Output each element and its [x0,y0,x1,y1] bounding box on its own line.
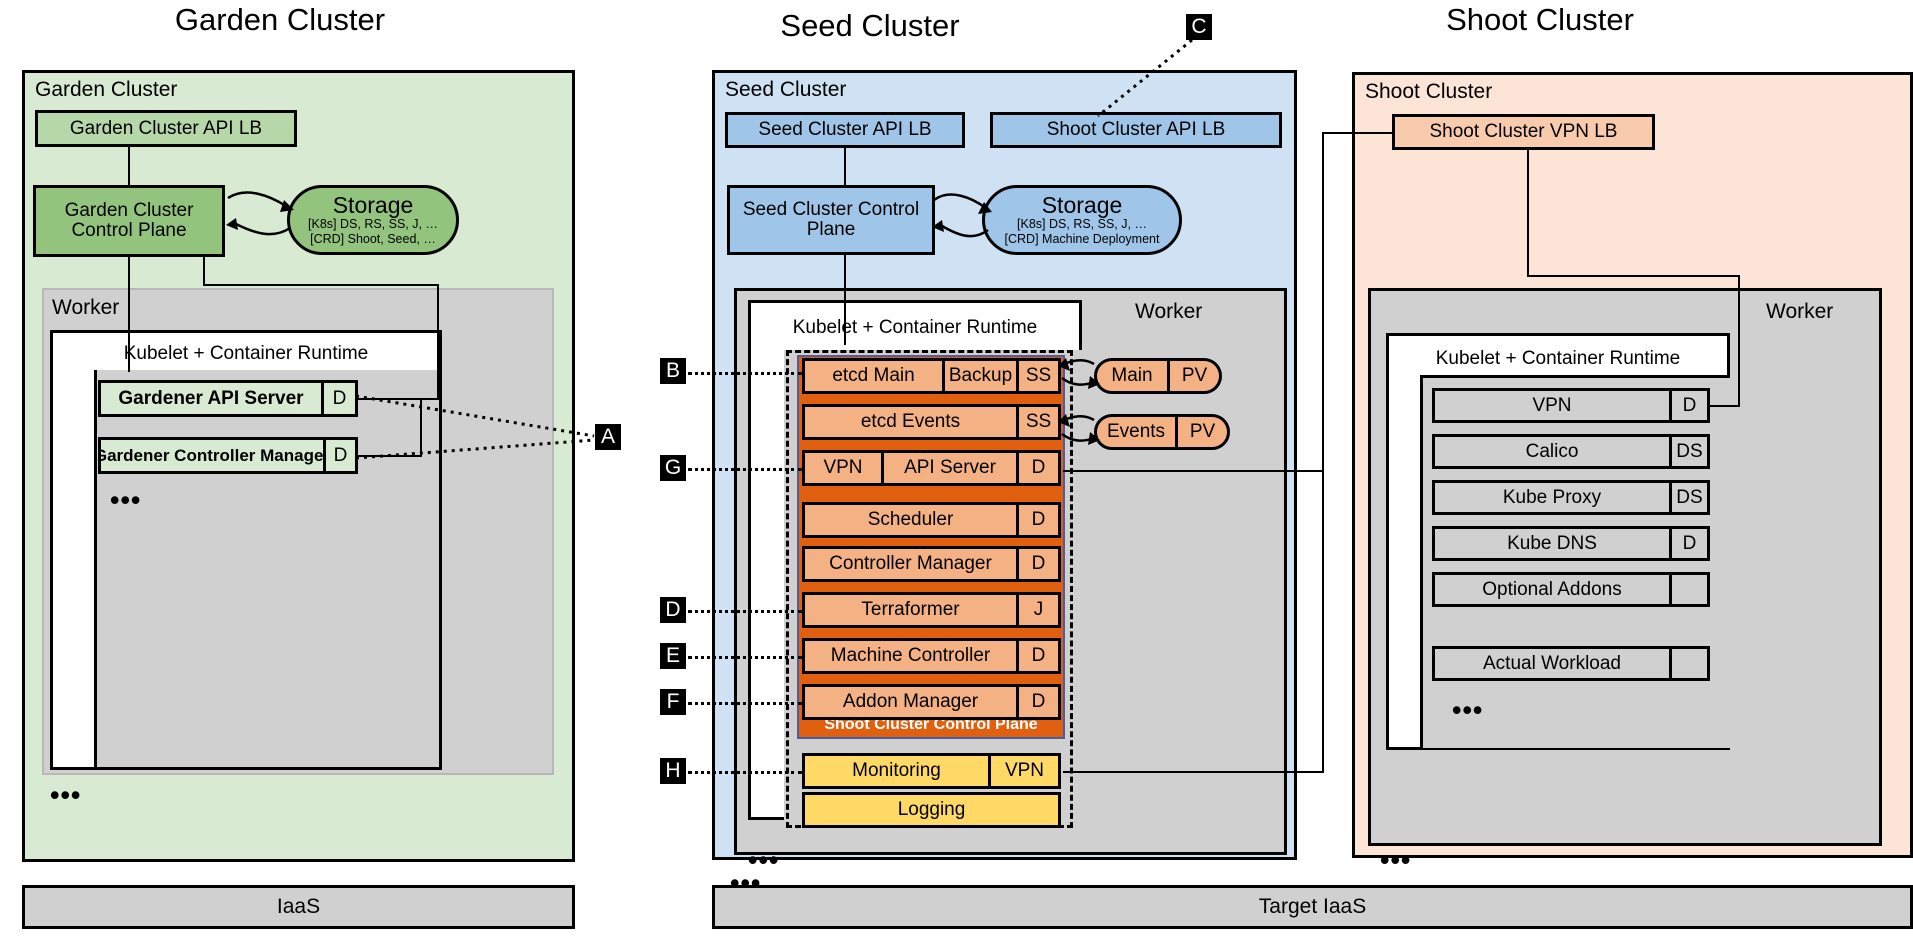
garden-worker-ellipsis: ••• [50,790,81,801]
seed-worker-ellipsis: ••• [748,855,779,866]
pod-kind: J [1016,595,1058,625]
pod-label: Logging [805,795,1058,825]
seed-pod-scheduler[interactable]: Scheduler D [802,502,1061,538]
callout-h[interactable]: H [660,758,686,784]
garden-column-title: Garden Cluster [60,2,500,38]
pod-kind [1669,575,1707,604]
shoot-vpnlb-down2 [1738,275,1740,405]
garden-lb-cp-link [128,147,130,185]
shoot-pod-region [1420,375,1730,748]
seed-storage-title: Storage [1042,194,1123,217]
shoot-pods-ellipsis: ••• [1452,705,1483,716]
seed-storage: Storage [K8s] DS, RS, SS, J, … [CRD] Mac… [982,185,1182,255]
callout-e-leader [688,656,802,659]
pod-kind: D [1016,641,1058,671]
monitoring-vpn-right-v [1322,470,1324,772]
garden-pod-gardener-api-server[interactable]: Gardener API Server D [98,380,358,417]
garden-kubelet-label: Kubelet + Container Runtime [53,343,439,365]
volume-label: Events [1097,417,1175,447]
shoot-column-title: Shoot Cluster [1320,2,1760,38]
shoot-pod-actual-workload[interactable]: Actual Workload [1432,646,1710,681]
seed-events-pv-arrows [1058,412,1100,456]
garden-storage-title: Storage [333,194,414,217]
seed-main-pv-arrows [1058,356,1100,400]
shoot-vpnlb-left-stub [1322,132,1394,134]
pod-kind: D [1669,391,1707,420]
pod-label: Gardener Controller Manager [101,440,323,471]
seed-pod-terraformer[interactable]: Terraformer J [802,592,1061,628]
shoot-worker-label: Worker [1766,300,1833,324]
pod-kind: D [1016,505,1058,535]
pod-label: etcd Main [805,361,942,391]
pod-kind: D [1669,529,1707,558]
seed-pod-machine-controller[interactable]: Machine Controller D [802,638,1061,674]
pod-kind: D [1016,549,1058,579]
callout-g-leader [688,468,802,471]
pod-label: Calico [1435,437,1669,466]
garden-pods-ellipsis: ••• [110,495,141,506]
seed-target-iaas-bar: Target IaaS [712,885,1913,929]
shoot-pod-optional-addons[interactable]: Optional Addons [1432,572,1710,607]
seed-pod-etcd-main[interactable]: etcd Main Backup SS [802,358,1061,394]
garden-iaas-bar: IaaS [22,885,575,929]
callout-d-leader [688,610,802,613]
seed-volume-main-pv: Main PV [1094,358,1222,394]
shoot-vpn-pod-stub [1710,405,1740,407]
callout-f-leader [688,702,802,705]
garden-cp-kubelet-link [128,257,130,372]
seed-pod-controller-manager[interactable]: Controller Manager D [802,546,1061,582]
pod-label: Optional Addons [1435,575,1669,604]
seed-worker-label: Worker [1135,300,1202,324]
callout-b-leader [688,372,802,375]
garden-storage-line2: [CRD] Shoot, Seed, … [310,232,436,247]
volume-kind: PV [1167,361,1219,391]
pod-kind: D [321,383,355,414]
garden-cp-pod-link-h [203,284,439,286]
pod-kind: DS [1669,483,1707,512]
shoot-pod-kube-dns[interactable]: Kube DNS D [1432,526,1710,561]
callout-c-leader [1096,38,1194,118]
seed-pod-addon-manager[interactable]: Addon Manager D [802,684,1061,720]
seed-column-title: Seed Cluster [680,8,1060,44]
callout-a[interactable]: A [595,424,621,450]
pod-sub: VPN [805,453,881,483]
callout-h-leader [688,771,802,774]
pod-kind: D [323,440,355,471]
volume-kind: PV [1175,417,1227,447]
seed-lb-cp-link [844,148,846,185]
pod-label: Kube DNS [1435,529,1669,558]
pod-kind: SS [1016,407,1058,437]
pod-kind: D [1016,687,1058,717]
seed-pod-api-server[interactable]: VPN API Server D [802,450,1061,486]
pod-label: Scheduler [805,505,1016,535]
pod-kind: D [1016,453,1058,483]
seed-api-lb[interactable]: Seed Cluster API LB [725,112,965,148]
callout-c[interactable]: C [1186,14,1212,40]
shoot-panel-label: Shoot Cluster [1365,80,1492,104]
pod-sub: Backup [942,361,1016,391]
pod-label: Monitoring [805,756,988,786]
shoot-pod-vpn[interactable]: VPN D [1432,388,1710,423]
callout-f[interactable]: F [660,689,686,715]
garden-storage-arrows [222,188,294,254]
callout-g[interactable]: G [660,455,686,481]
callout-a-leader [356,392,598,464]
seed-panel-label: Seed Cluster [725,78,846,102]
pod-kind [1669,649,1707,678]
pod-label: API Server [881,453,1016,483]
pod-label: Controller Manager [805,549,1016,579]
garden-panel-label: Garden Cluster [35,78,177,102]
garden-storage: Storage [K8s] DS, RS, SS, J, … [CRD] Sho… [287,185,459,255]
seed-pod-monitoring[interactable]: Monitoring VPN [802,753,1061,789]
pod-kind: DS [1669,437,1707,466]
seed-volume-events-pv: Events PV [1094,414,1230,450]
garden-storage-line1: [K8s] DS, RS, SS, J, … [308,217,438,232]
monitoring-vpn-right-link [1063,771,1324,773]
shoot-vpnlb-down [1527,150,1529,275]
shoot-vpn-lb[interactable]: Shoot Cluster VPN LB [1392,114,1655,150]
shoot-pod-kube-proxy[interactable]: Kube Proxy DS [1432,480,1710,515]
pod-sub: VPN [988,756,1058,786]
shoot-vpnlb-left-v [1322,132,1324,472]
garden-cp-pod-link-v1 [203,257,205,284]
garden-worker-label: Worker [52,296,119,320]
seed-pod-logging[interactable]: Logging [802,792,1061,828]
volume-label: Main [1097,361,1167,391]
shoot-pod-calico[interactable]: Calico DS [1432,434,1710,469]
pod-label: Gardener API Server [101,383,321,414]
seed-storage-line2: [CRD] Machine Deployment [1005,232,1160,247]
seed-cp-kubelet-link [844,255,846,345]
callout-e[interactable]: E [660,643,686,669]
pod-label: Addon Manager [805,687,1016,717]
shoot-kubelet-label: Kubelet + Container Runtime [1389,348,1727,370]
pod-label: VPN [1435,391,1669,420]
pod-label: Actual Workload [1435,649,1669,678]
shoot-worker-ellipsis: ••• [1380,855,1411,866]
seed-storage-line1: [K8s] DS, RS, SS, J, … [1017,217,1147,232]
seed-kubelet-label: Kubelet + Container Runtime [751,317,1079,339]
seed-pod-etcd-events[interactable]: etcd Events SS [802,404,1061,440]
pod-label: etcd Events [805,407,1016,437]
pod-label: Terraformer [805,595,1016,625]
garden-control-plane[interactable]: Garden Cluster Control Plane [33,185,225,257]
callout-b[interactable]: B [660,358,686,384]
garden-pod-gardener-controller-manager[interactable]: Gardener Controller Manager D [98,437,358,474]
seed-control-plane[interactable]: Seed Cluster Control Plane [727,185,935,255]
pod-label: Machine Controller [805,641,1016,671]
seed-storage-arrows [930,188,992,254]
callout-d[interactable]: D [660,597,686,623]
shoot-vpnlb-across [1527,275,1740,277]
garden-api-lb[interactable]: Garden Cluster API LB [35,110,297,147]
pod-label: Kube Proxy [1435,483,1669,512]
pod-kind: SS [1016,361,1058,391]
garden-cp-pod-link-v2 [437,284,439,398]
apiserver-to-shoot-link [1063,470,1324,472]
